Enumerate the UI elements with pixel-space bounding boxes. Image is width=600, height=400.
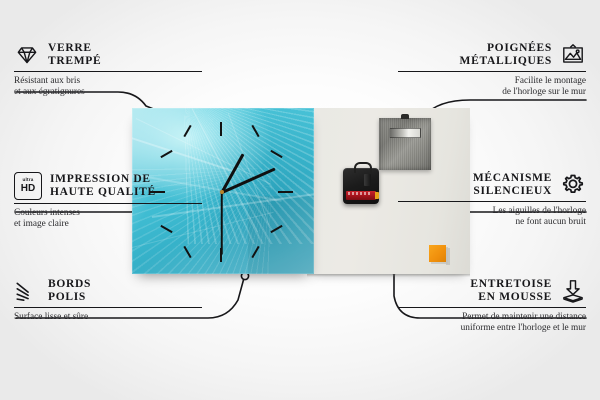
infographic-canvas: VERRE TREMPÉ Résistant aux bris et aux é… [0,0,600,400]
feature-divider [14,203,202,204]
clock-pivot [220,190,224,194]
feature-description: Surface lisse et sûre [14,312,202,323]
second-hand [221,192,223,254]
feature-heading-row: ENTRETOISE EN MOUSSE [398,278,586,304]
aa-battery [346,191,376,200]
quartz-movement-mechanism [343,168,379,204]
metal-hanger-plate [379,118,431,170]
feature-mecanisme-silencieux: MÉCANISME SILENCIEUX Les aiguilles de l'… [398,172,586,228]
clock-tick [278,191,293,193]
gear-icon [560,172,586,198]
glass-shadow-quadrant [248,196,314,274]
feature-heading-row: POIGNÉES MÉTALLIQUES [398,42,586,68]
foam-spacer [429,245,446,262]
framed-picture-hanger-icon [560,42,586,68]
feature-heading-row: BORDS POLIS [14,278,202,304]
feature-divider [14,71,202,72]
feature-bords-polis: BORDS POLIS Surface lisse et sûre [14,278,202,323]
feature-description: Facilite le montage de l'horloge sur le … [398,76,586,98]
feature-description: Permet de maintenir une distance uniform… [398,312,586,334]
feature-title: ENTRETOISE EN MOUSSE [470,278,552,304]
feature-poignees-metalliques: POIGNÉES MÉTALLIQUES Facilite le montage… [398,42,586,98]
feature-divider [398,71,586,72]
feature-title: IMPRESSION DE HAUTE QUALITÉ [50,173,156,199]
hanger-slot [389,128,421,138]
mechanism-hanging-loop [354,162,372,173]
battery-label [348,192,372,195]
feature-title: POIGNÉES MÉTALLIQUES [460,42,552,68]
feature-divider [398,201,586,202]
ultra-hd-icon: ultra HD [14,172,42,200]
feature-heading-row: ultra HD IMPRESSION DE HAUTE QUALITÉ [14,172,202,200]
polished-edges-icon [14,278,40,304]
feature-title: VERRE TREMPÉ [48,42,101,68]
diamond-icon [14,42,40,68]
clock-tick [220,122,222,136]
feature-impression-haute-qualite: ultra HD IMPRESSION DE HAUTE QUALITÉ Cou… [14,172,202,230]
feature-heading-row: VERRE TREMPÉ [14,42,202,68]
feature-description: Résistant aux bris et aux égratignures [14,76,202,98]
feature-divider [398,307,586,308]
feature-description: Couleurs intenses et image claire [14,208,202,230]
hanger-nail [401,114,409,119]
feature-entretoise-en-mousse: ENTRETOISE EN MOUSSE Permet de maintenir… [398,278,586,334]
mechanism-shaft [364,174,371,186]
feature-heading-row: MÉCANISME SILENCIEUX [398,172,586,198]
arrow-down-pad-icon [560,278,586,304]
feature-description: Les aiguilles de l'horloge ne font aucun… [398,206,586,228]
feature-divider [14,307,202,308]
feature-title: BORDS POLIS [48,278,91,304]
feature-title: MÉCANISME SILENCIEUX [473,172,552,198]
feature-verre-trempe: VERRE TREMPÉ Résistant aux bris et aux é… [14,42,202,98]
